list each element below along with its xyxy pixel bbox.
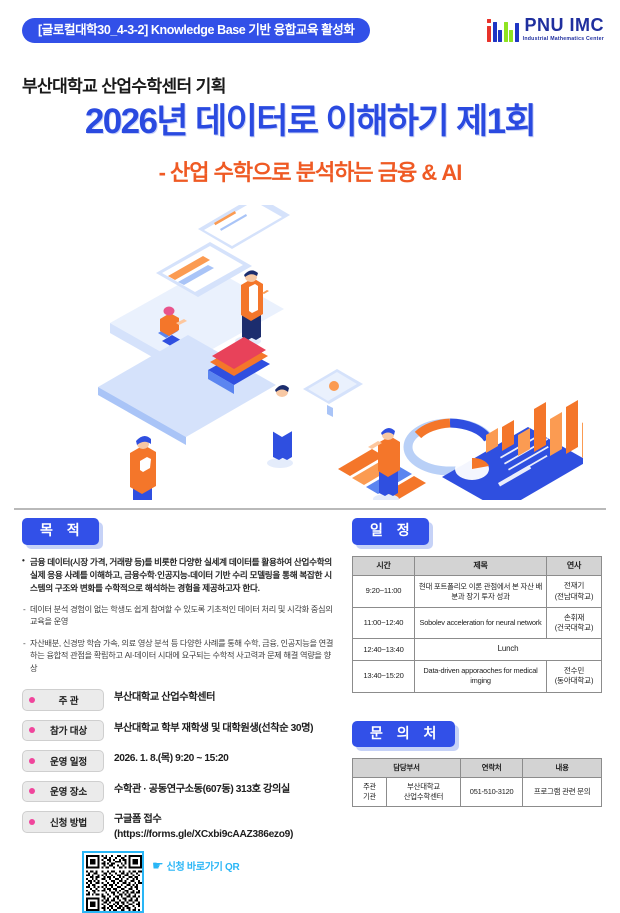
qr-note-text: 신청 바로가기 QR [167,858,240,873]
purpose-heading: 목 적 [22,518,99,545]
speaker-name: 전수민 [550,666,598,676]
info-label-date: 운영 일정 [22,750,104,772]
qr-section: ☛ 신청 바로가기 QR [82,851,334,913]
left-column: 목 적 금융 데이터(시장 가격, 거래량 등)를 비롯한 다양한 실세계 데이… [22,518,334,913]
info-row-audience: 참가 대상 부산대학교 학부 재학생 및 대학원생(선착순 30명) [22,720,334,742]
speaker-affiliation: (건국대학교) [550,623,598,633]
schedule-heading: 일 정 [352,518,429,545]
contact-dept-line1: 부산대학교 [389,782,458,792]
poster-root: [글로컬대학30_4-3-2] Knowledge Base 기반 융합교육 활… [0,0,620,879]
schedule-title-4: Data-driven apporaoches for medical imgi… [415,661,547,693]
right-column: 일 정 시간 제목 연사 9:20~11:00 현대 포트폴리오 이론 관점에서… [352,518,602,807]
program-badge: [글로컬대학30_4-3-2] Knowledge Base 기반 융합교육 활… [22,18,370,43]
schedule-header-row: 시간 제목 연사 [353,556,602,576]
info-label-apply: 신청 방법 [22,811,104,833]
page-subtitle: - 산업 수학으로 분석하는 금융 & AI [0,160,620,185]
schedule-table: 시간 제목 연사 9:20~11:00 현대 포트폴리오 이론 관점에서 본 자… [352,556,602,693]
info-value-date: 2026. 1. 8.(목) 9:20 ~ 15:20 [114,750,228,766]
table-row: 12:40~13:40 Lunch [353,639,602,661]
schedule-title-1: 현대 포트폴리오 이론 관점에서 본 자산 배분과 장기 투자 성과 [415,576,547,608]
hero-illustration: .b1{fill:#2f4fe0}.b2{fill:#5b85f0}.b3{fi… [38,205,583,500]
logo-sub-text: Industrial Mathematics Center [523,36,604,42]
speaker-affiliation: (전남대학교) [550,592,598,602]
info-value-audience: 부산대학교 학부 재학생 및 대학원생(선착순 30명) [114,720,313,736]
contact-table: 담당부서 연락처 내용 주관 기관 부산대학교 산업수학센터 [352,758,602,807]
contact-col-note: 내용 [523,759,602,778]
table-row: 주관 기관 부산대학교 산업수학센터 051-510-3120 프로그램 관련 … [353,778,602,807]
contact-phone: 051-510-3120 [461,778,523,807]
contact-heading: 문 의 처 [352,721,455,748]
schedule-col-time: 시간 [353,556,415,576]
apply-url[interactable]: (https://forms.gle/XCxbi9cAAZ386ezo9) [114,828,293,842]
contact-col-dept: 담당부서 [353,759,461,778]
info-row-apply: 신청 방법 구글폼 접수 (https://forms.gle/XCxbi9cA… [22,811,334,842]
info-label-audience-text: 참가 대상 [40,723,97,737]
info-label-host-text: 주 관 [40,693,97,707]
qr-note: ☛ 신청 바로가기 QR [152,851,239,873]
schedule-col-speaker: 연사 [547,556,602,576]
info-rows: 주 관 부산대학교 산업수학센터 참가 대상 부산대학교 학부 재학생 및 대학… [22,689,334,842]
schedule-time-2: 11:00~12:40 [353,607,415,639]
info-value-venue: 수학관 · 공동연구소동(607동) 313호 강의실 [114,781,290,797]
schedule-time-1: 9:20~11:00 [353,576,415,608]
contact-section: 문 의 처 담당부서 연락처 내용 주관 기관 [352,721,602,807]
speaker-name: 손휘재 [550,613,598,623]
info-label-venue-text: 운영 장소 [40,784,97,798]
contact-header-row: 담당부서 연락처 내용 [353,759,602,778]
info-value-host: 부산대학교 산업수학센터 [114,689,215,705]
pointing-hand-icon: ☛ [152,859,164,872]
purpose-bullet-2: 자산배분, 신경망 학습 가속, 의료 영상 분석 등 다양한 사례를 통해 수… [22,638,334,675]
info-value-apply: 구글폼 접수 (https://forms.gle/XCxbi9cAAZ386e… [114,811,293,842]
schedule-speaker-2: 손휘재 (건국대학교) [547,607,602,639]
purpose-body: 금융 데이터(시장 가격, 거래량 등)를 비롯한 다양한 실세계 데이터를 활… [22,556,334,676]
info-label-venue: 운영 장소 [22,781,104,803]
info-label-apply-text: 신청 방법 [40,815,97,829]
info-row-date: 운영 일정 2026. 1. 8.(목) 9:20 ~ 15:20 [22,750,334,772]
schedule-time-4: 13:40~15:20 [353,661,415,693]
contact-org-line1: 주관 [355,782,384,792]
contact-col-phone: 연락처 [461,759,523,778]
info-row-host: 주 관 부산대학교 산업수학센터 [22,689,334,711]
apply-method: 구글폼 접수 [114,813,293,827]
table-row: 9:20~11:00 현대 포트폴리오 이론 관점에서 본 자산 배분과 장기 … [353,576,602,608]
schedule-time-3: 12:40~13:40 [353,639,415,661]
contact-org-line2: 기관 [355,792,384,802]
speaker-affiliation: (동아대학교) [550,676,598,686]
logo-wordmark: PNU IMC Industrial Mathematics Center [523,16,604,42]
bullet-dot-icon [29,758,35,764]
schedule-title-3: Lunch [415,639,602,661]
poster-header: [글로컬대학30_4-3-2] Knowledge Base 기반 융합교육 활… [0,14,620,62]
info-row-venue: 운영 장소 수학관 · 공동연구소동(607동) 313호 강의실 [22,781,334,803]
contact-dept-line2: 산업수학센터 [389,792,458,802]
info-label-audience: 참가 대상 [22,720,104,742]
contact-dept: 부산대학교 산업수학센터 [387,778,461,807]
table-row: 13:40~15:20 Data-driven apporaoches for … [353,661,602,693]
bullet-dot-icon [29,788,35,794]
imc-logo-mark-icon [487,20,519,42]
purpose-bullet-1: 데이터 분석 경험이 없는 학생도 쉽게 참여할 수 있도록 기초적인 데이터 … [22,604,334,629]
schedule-speaker-4: 전수민 (동아대학교) [547,661,602,693]
schedule-speaker-1: 전재기 (전남대학교) [547,576,602,608]
speaker-name: 전재기 [550,581,598,591]
bullet-dot-icon [29,697,35,703]
logo-main-text: PNU IMC [525,16,605,34]
bullet-dot-icon [29,727,35,733]
pnu-imc-logo: PNU IMC Industrial Mathematics Center [487,16,604,42]
bullet-dot-icon [29,819,35,825]
qr-code[interactable] [82,851,144,913]
pretitle: 부산대학교 산업수학센터 기획 [22,72,226,97]
schedule-col-title: 제목 [415,556,547,576]
section-divider [14,508,606,510]
schedule-title-2: Sobolev acceleration for neural network [415,607,547,639]
purpose-main-paragraph: 금융 데이터(시장 가격, 거래량 등)를 비롯한 다양한 실세계 데이터를 활… [22,556,334,595]
table-row: 11:00~12:40 Sobolev acceleration for neu… [353,607,602,639]
contact-note: 프로그램 관련 문의 [523,778,602,807]
page-title: 2026년 데이터로 이해하기 제1회 [0,103,620,142]
info-label-date-text: 운영 일정 [40,754,97,768]
contact-org: 주관 기관 [353,778,387,807]
info-label-host: 주 관 [22,689,104,711]
